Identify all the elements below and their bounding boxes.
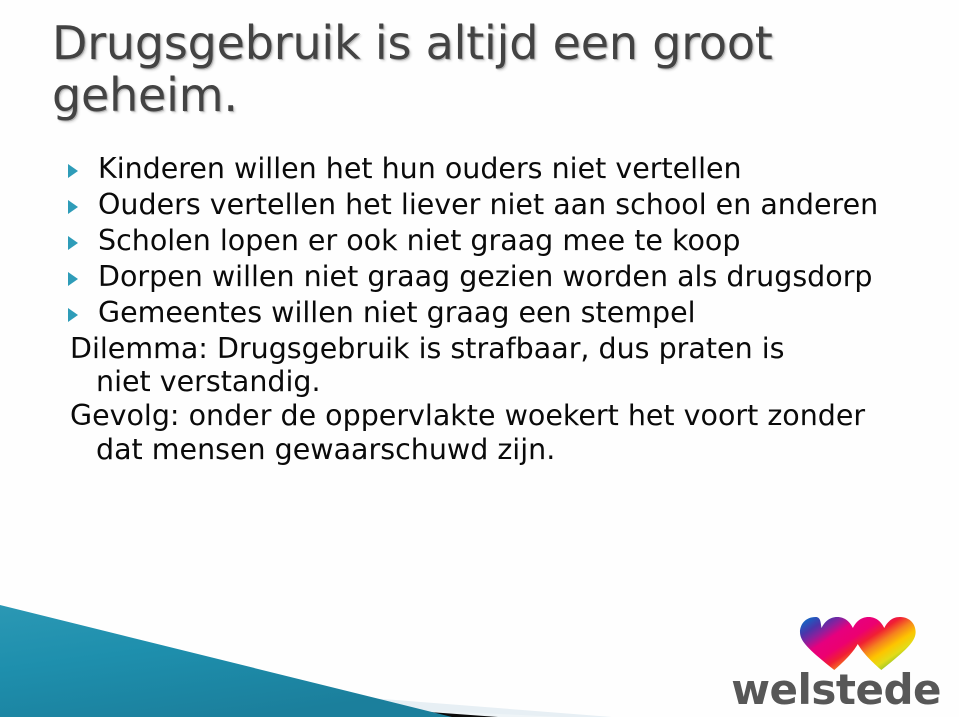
bullet-list: Kinderen willen het hun ouders niet vert… [60,152,920,330]
list-item: Gemeentes willen niet graag een stempel [60,296,920,330]
list-item-label: Ouders vertellen het liever niet aan sch… [98,188,920,222]
list-item: Scholen lopen er ook niet graag mee te k… [60,224,920,258]
paragraph-dilemma: Dilemma: Drugsgebruik is strafbaar, dus … [70,332,841,400]
content-body: Kinderen willen het hun ouders niet vert… [60,152,920,467]
band-silver [0,673,600,717]
triangle-bullet-icon [68,200,78,214]
list-item: Ouders vertellen het liever niet aan sch… [60,188,920,222]
triangle-bullet-icon [68,236,78,250]
triangle-bullet-icon [68,308,78,322]
welstede-logo: welstede [696,613,941,713]
welstede-wordmark: welstede [731,669,941,711]
band-silver-upper [0,669,612,717]
list-item: Kinderen willen het hun ouders niet vert… [60,152,920,186]
paragraph-gevolg: Gevolg: onder de oppervlakte woekert het… [70,399,886,467]
title-block: Drugsgebruik is altijd een groot geheim. [52,18,922,121]
list-item-label: Scholen lopen er ook niet graag mee te k… [98,224,920,258]
page-title: Drugsgebruik is altijd een groot geheim. [52,18,922,121]
slide-canvas: Drugsgebruik is altijd een groot geheim.… [0,0,959,717]
list-item-label: Gemeentes willen niet graag een stempel [98,296,920,330]
triangle-bullet-icon [68,164,78,178]
list-item-label: Kinderen willen het hun ouders niet vert… [98,152,920,186]
list-item-label: Dorpen willen niet graag gezien worden a… [98,260,920,294]
band-teal [0,605,452,717]
decorative-diagonal-bands [0,577,720,717]
triangle-bullet-icon [68,272,78,286]
welstede-double-heart-rainbow-icon [791,613,931,671]
list-item: Dorpen willen niet graag gezien worden a… [60,260,920,294]
band-black [0,681,498,717]
